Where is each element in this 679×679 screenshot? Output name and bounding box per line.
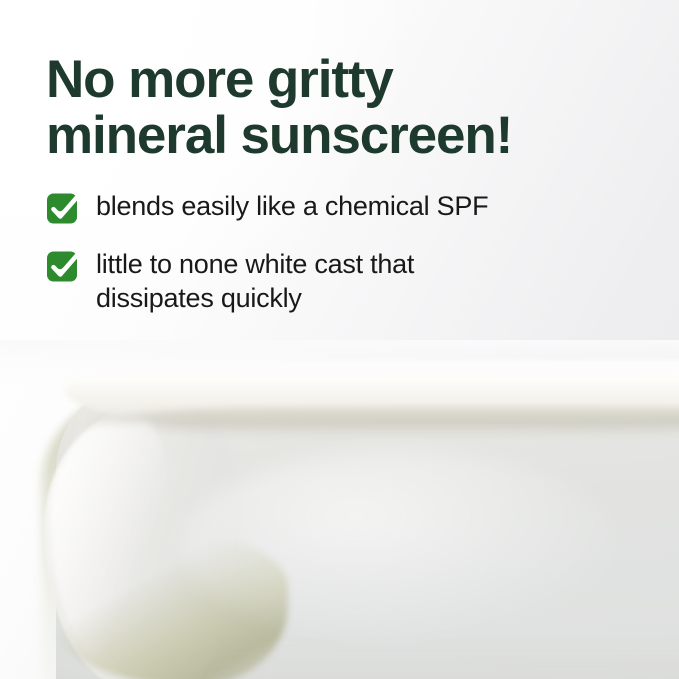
sunscreen-cream-macro-photo	[0, 340, 679, 679]
list-item: blends easily like a chemical SPF	[46, 188, 662, 226]
cream-ridge-highlight	[64, 360, 679, 422]
marketing-graphic: No more gritty mineral sunscreen! blends…	[0, 0, 679, 679]
text-content-block: No more gritty mineral sunscreen! blends…	[46, 52, 662, 315]
feature-bullet-list: blends easily like a chemical SPF little…	[46, 188, 662, 315]
check-mark-box-icon	[46, 248, 82, 284]
list-item-label: blends easily like a chemical SPF	[96, 188, 488, 223]
cream-surface-sheen	[180, 450, 620, 640]
list-item: little to none white cast that dissipate…	[46, 246, 662, 315]
check-mark-box-icon	[46, 190, 82, 226]
page-title: No more gritty mineral sunscreen!	[46, 52, 662, 164]
list-item-label: little to none white cast that dissipate…	[96, 246, 414, 315]
